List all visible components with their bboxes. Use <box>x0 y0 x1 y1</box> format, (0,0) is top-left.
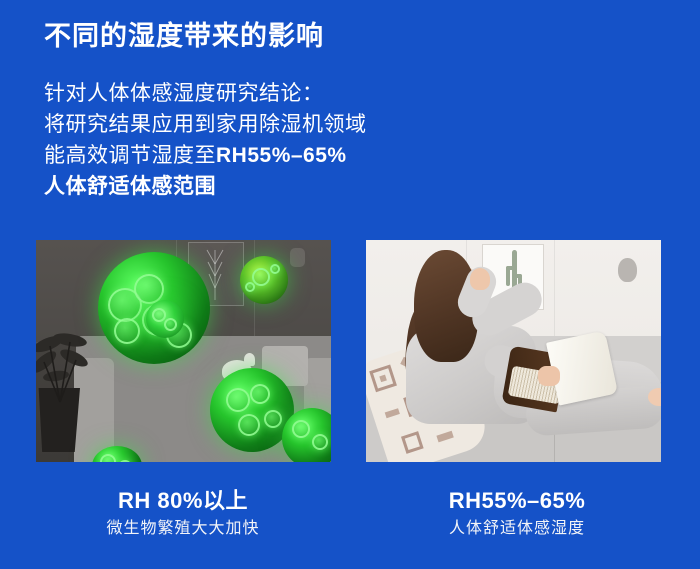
wall-knob <box>290 248 305 267</box>
microbe-sphere-wall <box>240 256 288 304</box>
intro-line-3-regular: 能高效调节湿度至 <box>44 144 216 167</box>
caption-comfort-humidity-main: RH55%–65% <box>352 486 682 516</box>
light-wall-knob <box>618 258 637 282</box>
plant-leaves-icon <box>36 328 104 404</box>
woman-hand-on-book <box>538 366 560 386</box>
caption-row: RH 80%以上 微生物繁殖大大加快 RH55%–65% 人体舒适体感湿度 <box>0 486 700 569</box>
intro-copy-block: 针对人体体感湿度研究结论： 将研究结果应用到家用除湿机领域 能高效调节湿度至RH… <box>44 78 367 202</box>
poster-root: 不同的湿度带来的影响 针对人体体感湿度研究结论： 将研究结果应用到家用除湿机领域… <box>0 0 700 569</box>
dark-room-scene <box>36 240 331 462</box>
page-title: 不同的湿度带来的影响 <box>44 20 324 54</box>
light-room-scene <box>366 240 661 462</box>
caption-high-humidity-main: RH 80%以上 <box>18 486 348 516</box>
intro-line-4: 人体舒适体感范围 <box>44 171 367 202</box>
photo-panels <box>0 240 700 462</box>
intro-line-3: 能高效调节湿度至RH55%–65% <box>44 140 367 171</box>
intro-line-1: 针对人体体感湿度研究结论： <box>44 78 367 109</box>
microbe-sphere-small-a <box>146 300 184 338</box>
photo-high-humidity <box>36 240 331 462</box>
photo-comfort-humidity <box>366 240 661 462</box>
woman-hand-on-head <box>470 268 490 290</box>
caption-high-humidity: RH 80%以上 微生物繁殖大大加快 <box>18 486 348 542</box>
caption-comfort-humidity: RH55%–65% 人体舒适体感湿度 <box>352 486 682 542</box>
intro-line-3-highlight: RH55%–65% <box>216 144 347 167</box>
caption-high-humidity-sub: 微生物繁殖大大加快 <box>18 516 348 542</box>
intro-line-2: 将研究结果应用到家用除湿机领域 <box>44 109 367 140</box>
caption-comfort-humidity-sub: 人体舒适体感湿度 <box>352 516 682 542</box>
